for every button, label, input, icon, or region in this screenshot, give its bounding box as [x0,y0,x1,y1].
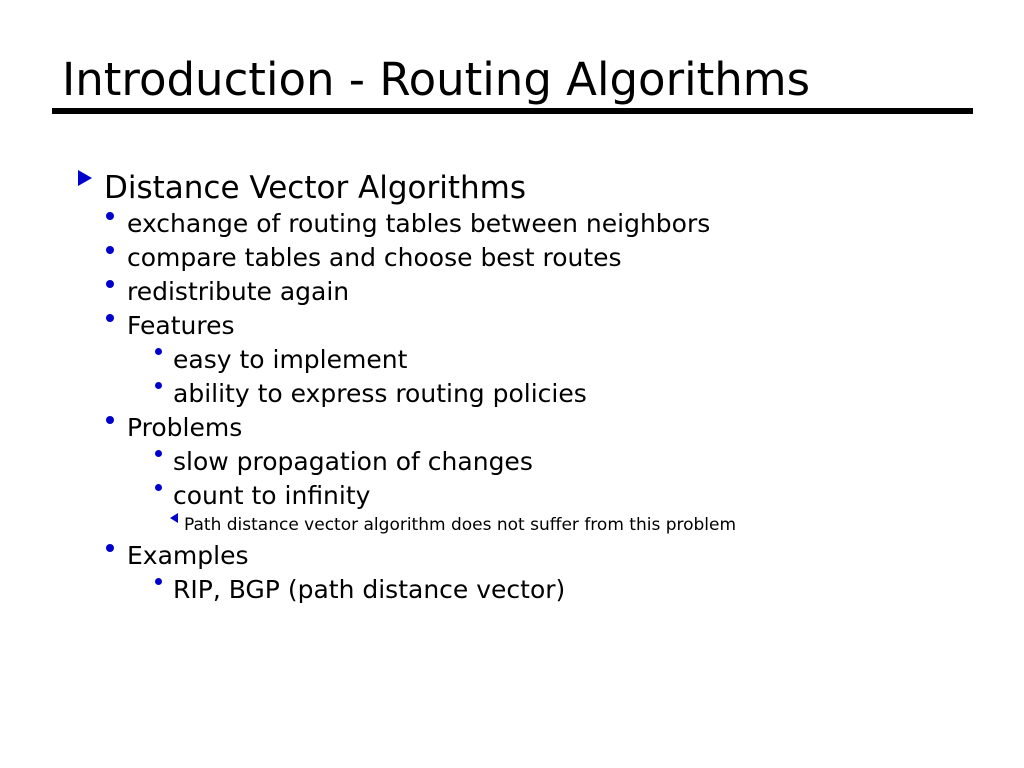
page-title: Introduction - Routing Algorithms [62,54,810,106]
round-bullet-icon [155,470,173,504]
presentation-slide: Introduction - Routing Algorithms Distan… [0,0,1024,768]
slide-body-outline: Distance Vector Algorithms exchange of r… [0,155,1024,598]
round-bullet-icon [106,402,127,436]
outline-item-label: compare tables and choose best routes [127,241,622,275]
outline-item-label: exchange of routing tables between neigh… [127,207,710,241]
round-bullet-icon [155,368,173,402]
outline-item-label: slow propagation of changes [173,445,533,479]
round-bullet-icon [106,198,127,232]
outline-item-label: Features [127,309,235,343]
round-bullet-icon [106,530,127,564]
round-bullet-icon [106,300,127,334]
outline-item-label: easy to implement [173,343,407,377]
outline-item-label: redistribute again [127,275,349,309]
outline-item-label: count to infinity [173,479,370,513]
outline-item-label: Problems [127,411,242,445]
triangle-right-bullet-icon [78,155,104,198]
outline-item-level-4: Path distance vector algorithm does not … [0,504,1024,530]
round-bullet-icon [155,564,173,598]
outline-item-label: ability to express routing policies [173,377,587,411]
triangle-left-bullet-icon [170,504,184,530]
outline-item-label: Examples [127,539,248,573]
outline-item-label: RIP, BGP (path distance vector) [173,573,565,607]
outline-item-level-3: ability to express routing policies [0,368,1024,402]
outline-item-label: Distance Vector Algorithms [104,167,526,210]
title-underline-rule [52,108,973,114]
outline-item-level-1: Distance Vector Algorithms [0,155,1024,198]
round-bullet-icon [155,436,173,470]
round-bullet-icon [155,334,173,368]
round-bullet-icon [106,266,127,300]
outline-item-label: Path distance vector algorithm does not … [184,512,736,538]
round-bullet-icon [106,232,127,266]
